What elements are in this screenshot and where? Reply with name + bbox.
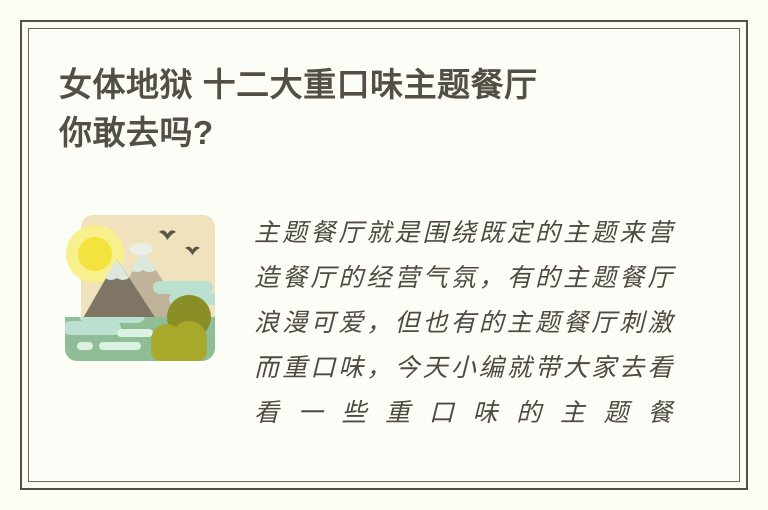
- landscape-icon: [61, 213, 223, 369]
- peak-cloud: [129, 243, 153, 255]
- article-inner-frame: 女体地狱 十二大重口味主题餐厅 你敢去吗?: [28, 28, 740, 482]
- bush-base: [151, 339, 207, 361]
- page-title: 女体地狱 十二大重口味主题餐厅 你敢去吗?: [59, 61, 699, 157]
- sun-core: [78, 237, 112, 271]
- article-body-column: 主题餐厅就是围绕既定的主题来营造餐厅的经营气氛，有的主题餐厅浪漫可爱，但也有的主…: [254, 205, 731, 435]
- mountain-landscape-illustration: [61, 213, 223, 369]
- article-body-text: 主题餐厅就是围绕既定的主题来营造餐厅的经营气氛，有的主题餐厅浪漫可爱，但也有的主…: [254, 210, 674, 435]
- article-card: 女体地狱 十二大重口味主题餐厅 你敢去吗?: [20, 20, 748, 490]
- article-content-row: 主题餐厅就是围绕既定的主题来营造餐厅的经营气氛，有的主题餐厅浪漫可爱，但也有的主…: [59, 205, 731, 481]
